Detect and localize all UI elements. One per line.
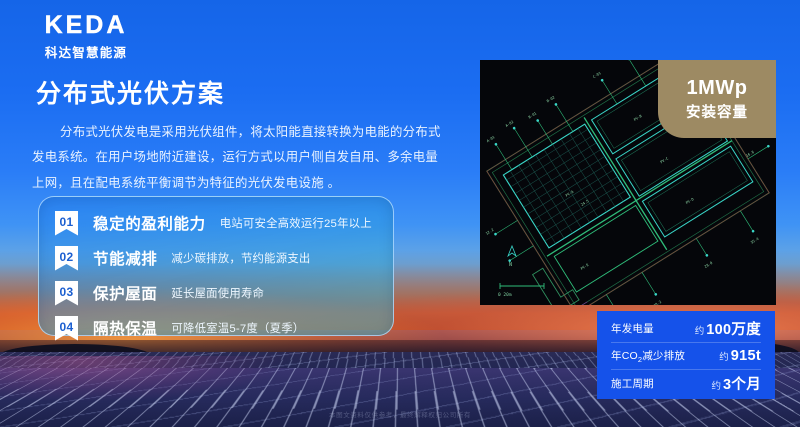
feature-title-04: 隔热保温 <box>93 317 157 339</box>
svg-text:C-01: C-01 <box>592 71 601 79</box>
svg-text:16.8: 16.8 <box>745 150 754 158</box>
feature-title-02: 节能减排 <box>93 247 157 269</box>
metric-prefix-co2-reduction: 约 <box>719 352 729 363</box>
key-metrics-panel: 年发电量 约100万度 年CO2减少排放 约915t 施工周期 约3个月 <box>597 311 775 399</box>
metric-row-annual-generation: 年发电量 约100万度 <box>611 315 761 343</box>
intro-paragraph: 分布式光伏发电是采用光伏组件，将太阳能直接转换为电能的分布式发电系统。在用户场地… <box>32 120 442 196</box>
capacity-value: 1MWp <box>687 77 748 99</box>
svg-text:PV-B: PV-B <box>633 114 642 122</box>
feature-item-01[interactable]: 01 稳定的盈利能力 电站可安全高效运行25年以上 <box>39 207 393 239</box>
feature-number-02: 02 <box>60 251 74 263</box>
svg-text:28.0: 28.0 <box>704 261 713 269</box>
feature-list-card: 01 稳定的盈利能力 电站可安全高效运行25年以上 02 节能减排 减少碳排放，… <box>38 196 394 336</box>
svg-text:12.2: 12.2 <box>485 228 494 236</box>
metric-row-co2-reduction: 年CO2减少排放 约915t <box>611 343 761 371</box>
svg-text:PV-E: PV-E <box>580 263 589 271</box>
metric-label-co2-pre: 年CO <box>611 350 638 362</box>
svg-text:PV-D: PV-D <box>685 197 694 205</box>
capacity-label: 安装容量 <box>686 101 748 122</box>
metric-value-construction-period: 3个月 <box>723 377 761 393</box>
feature-number-badge-01: 01 <box>55 211 78 236</box>
feature-number-04: 04 <box>60 321 74 333</box>
svg-text:N: N <box>509 262 512 268</box>
feature-desc-04: 可降低室温5-7度（夏季） <box>171 320 304 336</box>
slide-root: KEDA 科达智慧能源 分布式光伏方案 分布式光伏发电是采用光伏组件，将太阳能直… <box>0 0 800 427</box>
feature-item-02[interactable]: 02 节能减排 减少碳排放，节约能源支出 <box>39 242 393 274</box>
metric-label-construction-period: 施工周期 <box>611 376 712 391</box>
svg-text:A-01: A-01 <box>486 135 495 143</box>
svg-text:40.2: 40.2 <box>653 300 662 305</box>
svg-text:PV-C: PV-C <box>660 156 669 164</box>
metric-label-co2-post: 减少排放 <box>642 350 685 362</box>
page-title: 分布式光伏方案 <box>36 74 225 110</box>
feature-item-03[interactable]: 03 保护屋面 延长屋面使用寿命 <box>39 277 393 309</box>
cad-site-plan-panel[interactable]: A-01A-02 B-01B-02 C-01C-02 PV-A24.5 PV-B… <box>480 60 776 305</box>
brand-logo-mark: KEDA <box>26 13 146 38</box>
svg-text:24.5: 24.5 <box>580 199 589 207</box>
brand-logo: KEDA 科达智慧能源 <box>26 13 146 61</box>
brand-logo-name: 科达智慧能源 <box>26 42 146 61</box>
svg-text:35.4: 35.4 <box>750 237 759 245</box>
cad-north-arrow: N <box>508 246 516 268</box>
feature-number-badge-03: 03 <box>55 281 78 306</box>
feature-desc-02: 减少碳排放，节约能源支出 <box>171 250 310 266</box>
metric-value-co2-reduction: 915t <box>731 348 761 364</box>
metric-row-construction-period: 施工周期 约3个月 <box>611 370 761 398</box>
feature-desc-03: 延长屋面使用寿命 <box>171 285 264 301</box>
metric-value-annual-generation: 100万度 <box>706 322 761 338</box>
feature-number-01: 01 <box>60 216 74 228</box>
metric-label-co2-reduction: 年CO2减少排放 <box>611 348 719 364</box>
svg-text:B-01: B-01 <box>528 111 537 119</box>
svg-text:B-02: B-02 <box>546 95 555 103</box>
feature-desc-01: 电站可安全高效运行25年以上 <box>220 215 372 231</box>
svg-text:0 20m: 0 20m <box>498 292 512 298</box>
footer-disclaimer: 本图文资料仅供参考，最终解释权归公司所有 <box>0 409 800 419</box>
feature-number-badge-04: 04 <box>55 316 78 341</box>
feature-title-03: 保护屋面 <box>93 282 157 304</box>
cad-scale-bar: 0 20m <box>498 283 544 298</box>
svg-text:A-02: A-02 <box>505 120 514 128</box>
feature-number-03: 03 <box>60 286 74 298</box>
feature-title-01: 稳定的盈利能力 <box>93 212 206 234</box>
capacity-badge: 1MWp 安装容量 <box>658 60 776 138</box>
metric-label-annual-generation: 年发电量 <box>611 321 695 336</box>
metric-prefix-construction-period: 约 <box>712 381 722 392</box>
metric-prefix-annual-generation: 约 <box>695 326 705 337</box>
feature-item-04[interactable]: 04 隔热保温 可降低室温5-7度（夏季） <box>39 312 393 344</box>
feature-number-badge-02: 02 <box>55 246 78 271</box>
